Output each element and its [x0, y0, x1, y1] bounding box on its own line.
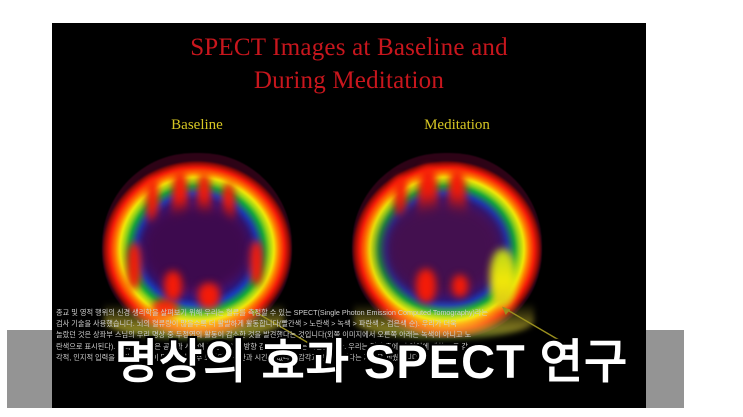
- central-dark-region: [382, 201, 504, 297]
- gyrus-blob: [416, 269, 436, 303]
- parietal-yellow-region: [490, 249, 516, 307]
- gyrus-blob: [127, 243, 141, 289]
- slide-title-line-2: During Meditation: [52, 64, 646, 97]
- label-baseline: Baseline: [122, 117, 272, 134]
- gyrus-blob: [250, 241, 263, 285]
- gyrus-blob: [452, 275, 468, 297]
- overlay-headline: 명상의 효과 SPECT 연구: [0, 336, 743, 388]
- slide-title: SPECT Images at Baseline and During Medi…: [52, 31, 646, 97]
- caption-line: 검사 기술을 사용했습니다. 뇌의 혈류량이 많을수록 더 활발하게 활동합니다…: [56, 318, 642, 329]
- overlay-headline-text: 명상의 효과 SPECT 연구: [115, 335, 629, 388]
- slide-title-line-1: SPECT Images at Baseline and: [52, 31, 646, 64]
- slide-stage: SPECT Images at Baseline and During Medi…: [0, 0, 743, 417]
- label-meditation: Meditation: [382, 117, 532, 134]
- gyrus-blob: [164, 271, 182, 301]
- caption-line: 종교 및 영적 행위의 신경 생리학을 살펴보기 위해 우리는 혈류를 측정할 …: [56, 307, 642, 318]
- central-dark-region: [140, 205, 252, 291]
